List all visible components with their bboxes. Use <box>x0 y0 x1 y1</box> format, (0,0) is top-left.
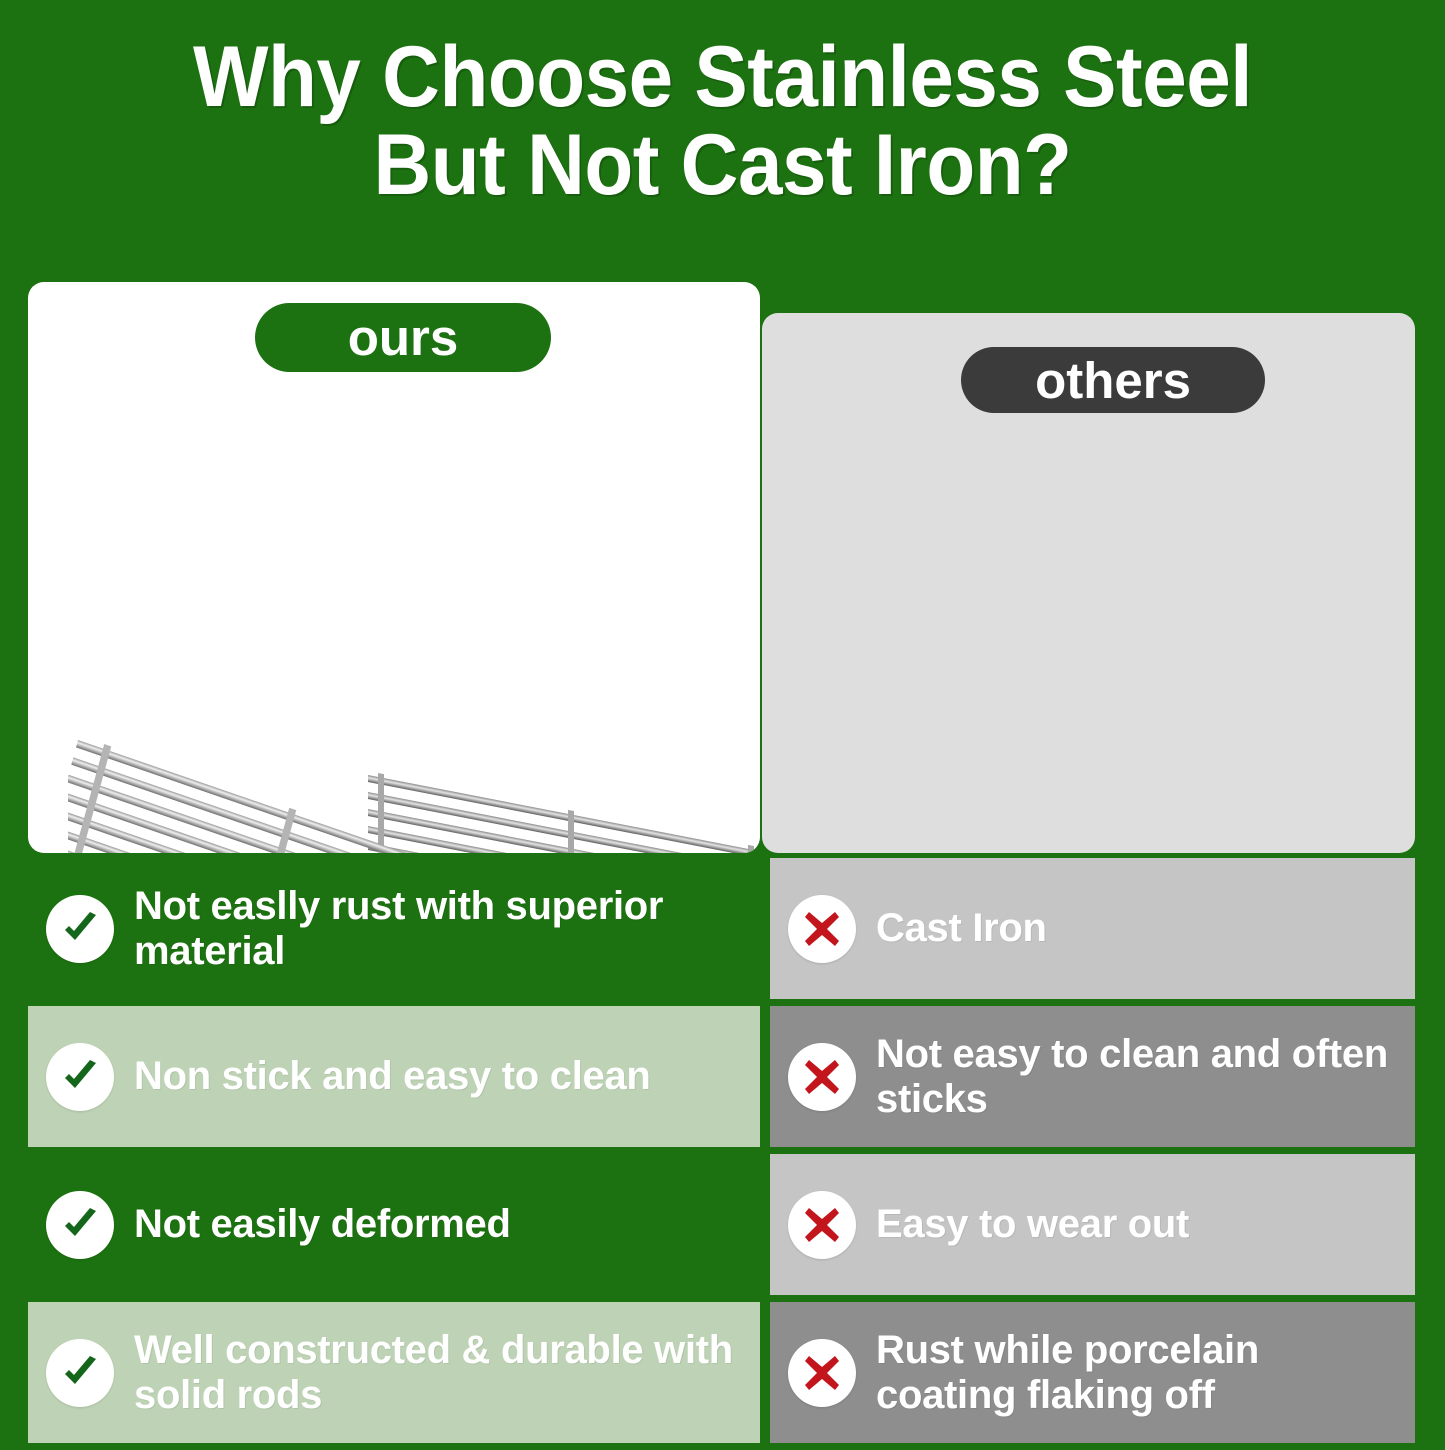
list-item-label: Easy to wear out <box>856 1202 1199 1247</box>
check-icon <box>46 1043 114 1111</box>
list-item-label: Cast Iron <box>856 906 1057 951</box>
list-item: Easy to wear out <box>770 1154 1415 1295</box>
list-item: Well constructed & durable with solid ro… <box>28 1302 760 1443</box>
others-feature-list: Cast Iron Not easy to clean and often st… <box>770 858 1415 1450</box>
cross-icon <box>788 1191 856 1259</box>
cross-icon <box>788 1043 856 1111</box>
list-item-label: Non stick and easy to clean <box>114 1054 661 1099</box>
page-title: Why Choose Stainless Steel But Not Cast … <box>0 34 1445 209</box>
cross-icon <box>788 1339 856 1407</box>
stainless-steel-grates-image <box>68 720 760 853</box>
check-icon <box>46 1339 114 1407</box>
list-item-label: Rust while porcelain coating flaking off <box>856 1328 1415 1418</box>
title-line-1: Why Choose Stainless Steel <box>51 34 1395 122</box>
list-item: Rust while porcelain coating flaking off <box>770 1302 1415 1443</box>
ours-feature-list: Not easlly rust with superior material N… <box>28 858 760 1450</box>
list-item: Cast Iron <box>770 858 1415 999</box>
title-line-2: But Not Cast Iron? <box>51 122 1395 210</box>
badge-others-label: others <box>1035 351 1191 410</box>
badge-ours-label: ours <box>348 308 459 367</box>
list-item-label: Not easily deformed <box>114 1202 521 1247</box>
check-icon <box>46 895 114 963</box>
check-icon <box>46 1191 114 1259</box>
badge-ours: ours <box>255 303 551 372</box>
list-item-label: Not easy to clean and often sticks <box>856 1032 1415 1122</box>
cross-icon <box>788 895 856 963</box>
list-item: Not easily deformed <box>28 1154 760 1295</box>
badge-others: others <box>961 347 1265 413</box>
list-item-label: Not easlly rust with superior material <box>114 884 760 974</box>
list-item: Not easy to clean and often sticks <box>770 1006 1415 1147</box>
list-item: Non stick and easy to clean <box>28 1006 760 1147</box>
list-item: Not easlly rust with superior material <box>28 858 760 999</box>
list-item-label: Well constructed & durable with solid ro… <box>114 1328 760 1418</box>
